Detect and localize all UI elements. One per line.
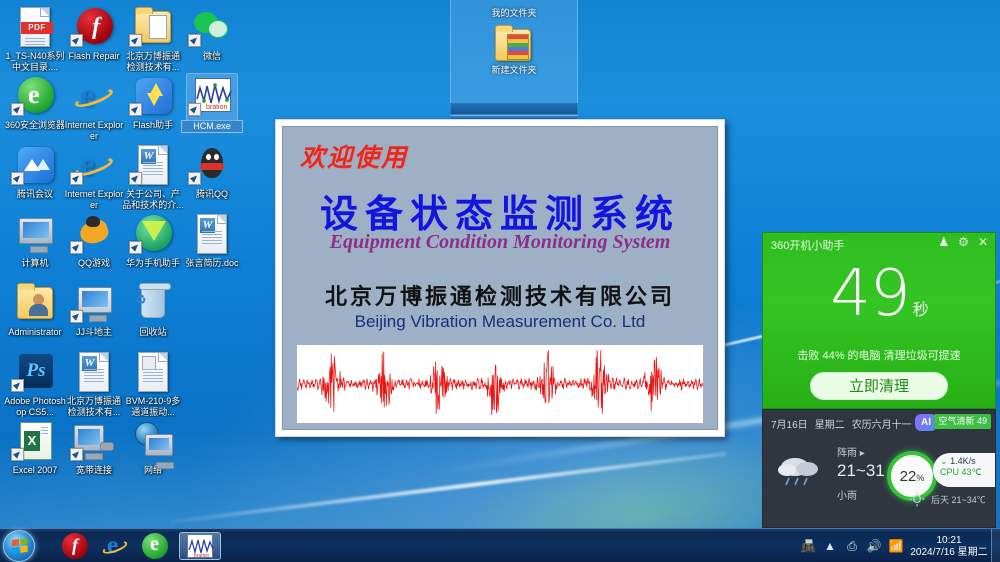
recycle-bin-icon: ♻ — [129, 282, 177, 326]
desktop-icon-label: 腾讯QQ — [181, 189, 243, 200]
document-icon — [129, 351, 177, 395]
desktop-icon-tencent-meeting[interactable]: 腾讯会议 — [4, 144, 66, 200]
jj-game-icon — [70, 282, 118, 326]
pdf-icon: PDF — [11, 6, 59, 50]
desktop-icon-network[interactable]: 网络 — [122, 420, 184, 476]
desktop-icon-internet-explorer-2[interactable]: e Internet Explorer — [63, 144, 125, 210]
background-window-item-label: 新建文件夹 — [491, 63, 537, 76]
desktop-icon-wechat[interactable]: 微信 — [181, 6, 243, 62]
desktop-icon-label: Flash助手 — [122, 120, 184, 131]
company-name-cn: 北京万博振通检测技术有限公司 — [283, 279, 717, 311]
clock-time: 10:21 — [907, 535, 991, 547]
svg-text:bration: bration — [194, 553, 210, 559]
desktop-icon-label: Adobe Photoshop CS5... — [4, 396, 66, 417]
network-speed: ⌄ 1.4K/s — [940, 456, 996, 467]
desktop-icon-pdf-catalog[interactable]: PDF 1_TS-N40系列中文目录.... — [4, 6, 66, 72]
ie-icon: e — [70, 144, 118, 188]
desktop-icon-label: 1_TS-N40系列中文目录.... — [4, 51, 66, 72]
desktop-icon-recycle-bin[interactable]: ♻ 回收站 — [122, 282, 184, 338]
temperature-range: 21~31 — [837, 461, 885, 481]
computer-icon — [11, 213, 59, 257]
company-name-en: Beijing Vibration Measurement Co. Ltd — [283, 312, 717, 332]
taskbar-item-internet-explorer[interactable]: e — [95, 532, 135, 560]
desktop-icon-photoshop[interactable]: Ps Adobe Photoshop CS5... — [4, 351, 66, 417]
desktop-icon-label: 网络 — [122, 465, 184, 476]
desktop-icon-jj-game[interactable]: JJ斗地主 — [63, 282, 125, 338]
360-booster-widget[interactable]: 360开机小助手 ♟ ⚙ ✕ 49秒 击败 44% 的电脑 清理垃圾可提速 立即… — [762, 232, 996, 409]
desktop-icon-label: HCM.exe — [181, 120, 243, 133]
word-doc-icon: W — [70, 351, 118, 395]
waveform-icon: bration — [188, 75, 236, 119]
word-doc-icon: W — [188, 213, 236, 257]
background-window-title: 我的文件夹 — [451, 6, 577, 19]
desktop-icon-tencent-qq[interactable]: 腾讯QQ — [181, 144, 243, 200]
word-doc-icon: W — [129, 144, 177, 188]
tray-volume-icon[interactable]: 🔊 — [863, 539, 885, 553]
huawei-hisuite-icon — [129, 213, 177, 257]
desktop-icon-label: Administrator — [4, 327, 66, 338]
desktop-icon-label: Excel 2007 — [4, 465, 66, 476]
taskbar-item-hcm-app[interactable]: bration — [179, 532, 221, 560]
svg-text:bration: bration — [206, 104, 228, 111]
waveform-icon: bration — [188, 535, 214, 559]
cpu-temperature: CPU 43℃ — [940, 467, 996, 478]
weather-condition: 阵雨 ▸ — [837, 444, 865, 459]
forecast-text: 后天 21~34℃ — [931, 493, 986, 506]
360-widget-title: 360开机小助手 — [771, 240, 844, 252]
desktop-icon-label: 北京万博振通检测技术有... — [122, 51, 184, 72]
gear-icon[interactable]: ⚙ — [958, 236, 969, 248]
show-desktop-button[interactable] — [991, 529, 1000, 562]
splash-panel: 欢迎使用 设备状态监测系统 Equipment Condition Monito… — [282, 126, 718, 430]
360-widget-header: 360开机小助手 ♟ ⚙ ✕ — [763, 233, 995, 255]
folder-icon — [129, 6, 177, 50]
boot-subtitle: 击败 44% 的电脑 清理垃圾可提速 — [763, 347, 995, 363]
desktop-icon-company-folder[interactable]: 北京万博振通检测技术有... — [122, 6, 184, 72]
weather-monitor-widget[interactable]: 7月16日 星期二 农历六月十一 AI 空气清新 49 阵雨 ▸ 21~31 小… — [762, 409, 996, 528]
desktop-icon-flash-helper[interactable]: Flash助手 — [122, 75, 184, 131]
weather-condition-label: 阵雨 — [837, 448, 857, 459]
air-quality-badge: 空气清新 49 — [934, 414, 991, 429]
wechat-icon — [188, 6, 236, 50]
desktop-icon-about-company-doc[interactable]: W 关于公司、产品和技术的介... — [122, 144, 184, 210]
desktop-icon-qq-game[interactable]: QQ游戏 — [63, 213, 125, 269]
system-title-cn: 设备状态监测系统 — [283, 183, 717, 238]
desktop-icon-label: 关于公司、产品和技术的介... — [122, 189, 184, 210]
weather-lunar: 农历六月十一 — [852, 416, 912, 431]
sun-icon — [909, 491, 925, 507]
splash-window[interactable]: 欢迎使用 设备状态监测系统 Equipment Condition Monito… — [275, 119, 725, 437]
humidity-value: 22 — [900, 468, 917, 485]
system-title-en: Equipment Condition Monitoring System — [283, 231, 717, 254]
boot-seconds-unit: 秒 — [913, 300, 928, 319]
clock-date: 2024/7/16 星期二 — [907, 547, 991, 559]
vibration-waveform — [297, 345, 703, 423]
system-monitor-pill[interactable]: ⌄ 1.4K/s CPU 43℃ + — [933, 453, 996, 487]
taskbar-item-flash[interactable]: f — [55, 532, 95, 560]
vibration-waveform-panel — [297, 345, 703, 423]
weather-date: 7月16日 — [771, 416, 808, 431]
desktop-icon-label: Flash Repair — [63, 51, 125, 62]
boot-seconds-number: 49 — [830, 257, 909, 331]
desktop-icon-label: Internet Explorer — [63, 189, 125, 210]
desktop-icon-company-doc[interactable]: W 北京万博振通检测技术有... — [63, 351, 125, 417]
tray-network-icon[interactable]: 📶 — [885, 539, 907, 553]
photoshop-icon: Ps — [11, 351, 59, 395]
waveform-glyph: bration — [196, 79, 232, 113]
desktop-icon-label: 宽带连接 — [63, 465, 125, 476]
desktop-icon-label: QQ游戏 — [63, 258, 125, 269]
desktop-icon-huawei-hisuite[interactable]: 华为手机助手 — [122, 213, 184, 269]
weather-weekday: 星期二 — [815, 416, 845, 431]
desktop-icon-label: 张言简历.doc — [181, 258, 243, 269]
desktop-icon-broadband-connection[interactable]: 宽带连接 — [63, 420, 125, 476]
taskbar-item-360-browser[interactable]: e — [135, 532, 175, 560]
desktop-icon-internet-explorer[interactable]: e Internet Explorer — [63, 75, 125, 141]
windows-logo-icon — [12, 539, 28, 555]
taskbar: f e e bration 📠 ▲ ⎙ 🔊 📶 10:21 2024/7/16 — [0, 528, 1000, 562]
flash-helper-icon — [129, 75, 177, 119]
user-folder-icon — [11, 282, 59, 326]
desktop-icon-label: 华为手机助手 — [122, 258, 184, 269]
weather-header: 7月16日 星期二 农历六月十一 AI 空气清新 49 — [763, 410, 995, 431]
weather-wind: 小雨 — [837, 487, 857, 502]
background-explorer-window[interactable]: 我的文件夹 新建文件夹 — [450, 0, 578, 116]
network-speed-value: 1.4K/s — [950, 456, 976, 466]
desktop-icon-computer[interactable]: 计算机 — [4, 213, 66, 269]
desktop-icon-360-browser[interactable]: e 360安全浏览器 — [4, 75, 66, 131]
network-icon — [129, 420, 177, 464]
weather-body: 阵雨 ▸ 21~31 小雨 22% ⌄ 1.4K/s CPU 43℃ + 后天 … — [763, 431, 995, 517]
flash-icon: f — [70, 6, 118, 50]
taskbar-clock[interactable]: 10:21 2024/7/16 星期二 — [907, 533, 991, 559]
desktop-icon-label: 北京万博振通检测技术有... — [63, 396, 125, 417]
desktop-icon-label: JJ斗地主 — [63, 327, 125, 338]
excel-icon — [11, 420, 59, 464]
background-window-item[interactable]: 新建文件夹 — [491, 27, 537, 76]
desktop-icon-label: 回收站 — [122, 327, 184, 338]
browser-360-icon: e — [11, 75, 59, 119]
desktop-icon-label: Internet Explorer — [63, 120, 125, 141]
start-button[interactable] — [3, 530, 35, 562]
close-icon[interactable]: ✕ — [978, 236, 988, 248]
tencent-meeting-icon — [11, 144, 59, 188]
skin-icon[interactable]: ♟ — [938, 236, 949, 248]
welcome-text: 欢迎使用 — [300, 138, 408, 174]
desktop-icon-flash-repair[interactable]: f Flash Repair — [63, 6, 125, 62]
boot-seconds-value: 49秒 — [763, 263, 995, 341]
background-window-band-1 — [450, 103, 578, 115]
desktop-icon-label: 腾讯会议 — [4, 189, 66, 200]
wallpaper-streak-3 — [170, 452, 726, 524]
desktop-icon-label: BVM-210-9多通道振动... — [122, 396, 184, 417]
clean-now-button[interactable]: 立即清理 — [810, 372, 948, 400]
qq-penguin-icon — [188, 144, 236, 188]
desktop-icon-bvm210-doc[interactable]: BVM-210-9多通道振动... — [122, 351, 184, 417]
desktop-icon-label: 360安全浏览器 — [4, 120, 66, 131]
tray-action-center-icon[interactable]: 📠 — [797, 539, 819, 553]
ie-icon: e — [70, 75, 118, 119]
tray-show-hidden-icon[interactable]: ▲ — [819, 539, 841, 553]
desktop-icon-label: 计算机 — [4, 258, 66, 269]
desktop-icon-label: 微信 — [181, 51, 243, 62]
tray-safe-removal-icon[interactable]: ⎙ — [841, 539, 863, 554]
desktop-icon-resume-doc[interactable]: W 张言简历.doc — [181, 213, 243, 269]
desktop-icon-administrator[interactable]: Administrator — [4, 282, 66, 338]
desktop-icon-hcm-exe[interactable]: bration HCM.exe — [181, 75, 243, 133]
qq-game-icon — [70, 213, 118, 257]
humidity-unit: % — [916, 473, 924, 483]
system-tray: 📠 ▲ ⎙ 🔊 📶 10:21 2024/7/16 星期二 — [797, 529, 1000, 562]
rain-cloud-icon — [777, 453, 825, 487]
desktop-icon-excel-2007[interactable]: Excel 2007 — [4, 420, 66, 476]
broadband-icon — [70, 420, 118, 464]
